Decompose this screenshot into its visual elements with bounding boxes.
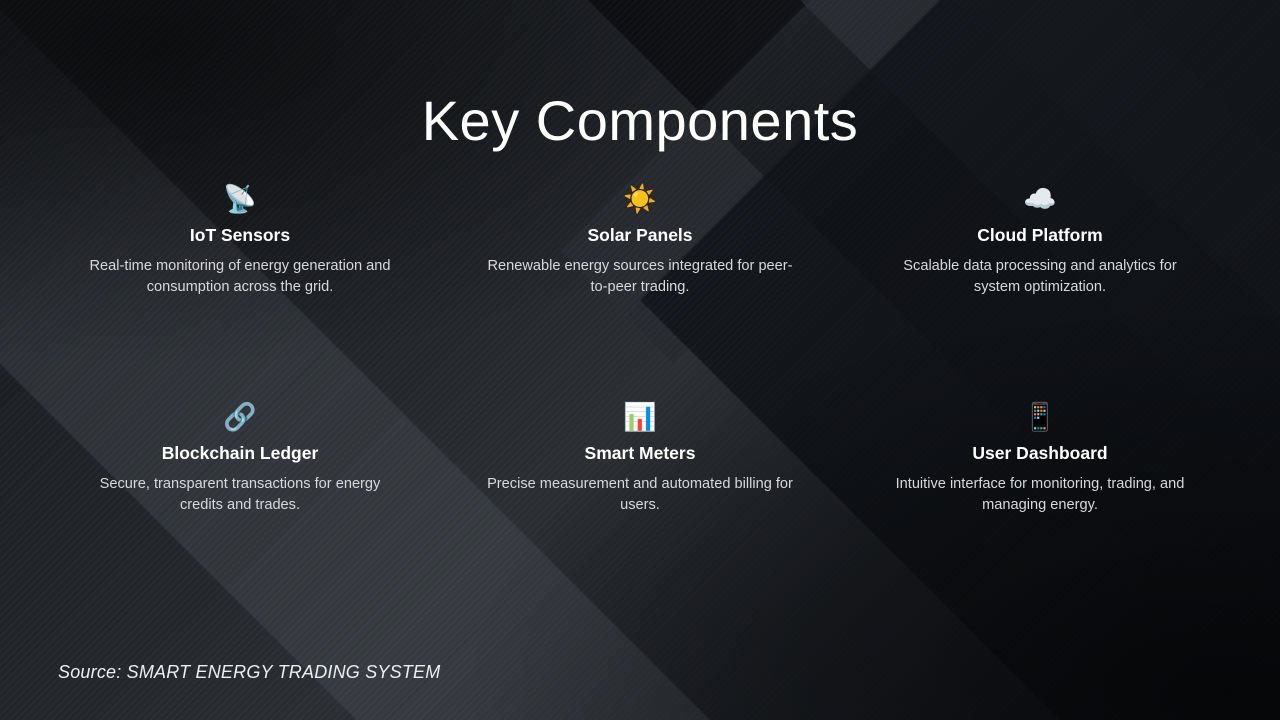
component-card-blockchain-ledger: 🔗 Blockchain Ledger Secure, transparent … <box>40 400 440 618</box>
component-description: Intuitive interface for monitoring, trad… <box>885 474 1195 516</box>
satellite-antenna-icon: 📡 <box>223 182 257 218</box>
component-description: Real-time monitoring of energy generatio… <box>85 256 395 298</box>
component-description: Precise measurement and automated billin… <box>485 474 795 516</box>
sun-icon: ☀️ <box>623 182 657 218</box>
component-card-user-dashboard: 📱 User Dashboard Intuitive interface for… <box>840 400 1240 618</box>
component-title: Blockchain Ledger <box>162 441 319 465</box>
component-card-solar-panels: ☀️ Solar Panels Renewable energy sources… <box>440 182 840 400</box>
components-grid: 📡 IoT Sensors Real-time monitoring of en… <box>40 182 1240 618</box>
bar-chart-icon: 📊 <box>623 400 657 436</box>
component-card-smart-meters: 📊 Smart Meters Precise measurement and a… <box>440 400 840 618</box>
link-chain-icon: 🔗 <box>223 400 257 436</box>
component-description: Scalable data processing and analytics f… <box>885 256 1195 298</box>
component-title: Smart Meters <box>585 441 696 465</box>
component-title: IoT Sensors <box>190 223 290 247</box>
component-card-cloud-platform: ☁️ Cloud Platform Scalable data processi… <box>840 182 1240 400</box>
mobile-phone-icon: 📱 <box>1023 400 1057 436</box>
page-title: Key Components <box>0 90 1280 152</box>
component-description: Renewable energy sources integrated for … <box>485 256 795 298</box>
component-title: Cloud Platform <box>977 223 1102 247</box>
source-caption: Source: SMART ENERGY TRADING SYSTEM <box>58 662 440 683</box>
component-card-iot-sensors: 📡 IoT Sensors Real-time monitoring of en… <box>40 182 440 400</box>
component-title: User Dashboard <box>972 441 1107 465</box>
component-description: Secure, transparent transactions for ene… <box>85 474 395 516</box>
slide-canvas: Key Components 📡 IoT Sensors Real-time m… <box>0 0 1280 720</box>
component-title: Solar Panels <box>587 223 692 247</box>
slide-content: Key Components 📡 IoT Sensors Real-time m… <box>0 0 1280 720</box>
cloud-icon: ☁️ <box>1023 182 1057 218</box>
